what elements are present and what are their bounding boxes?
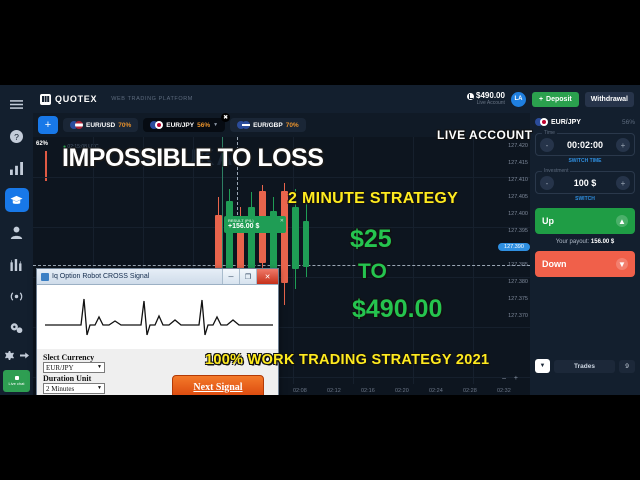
current-price-tag: 127.390 <box>498 243 530 251</box>
panel-asset-name: EUR/JPY <box>551 119 581 126</box>
eurjpy-flag-icon <box>535 118 548 126</box>
chat-dot-icon <box>15 376 19 380</box>
deposit-button[interactable]: + Deposit <box>532 92 579 107</box>
close-button[interactable]: ✕ <box>256 269 278 284</box>
time-tick: 02:28 <box>463 388 477 394</box>
close-icon[interactable]: ✕ <box>280 218 284 224</box>
overlay-amount-to: $490.00 <box>352 295 442 324</box>
overlay-strategy: 2 MINUTE STRATEGY <box>288 190 458 208</box>
duration-select[interactable]: 2 Minutes ▼ <box>43 383 105 394</box>
live-chat-label: Live chat <box>8 381 24 386</box>
price-tick: 127.370 <box>498 313 528 319</box>
time-tick: 02:12 <box>327 388 341 394</box>
buy-up-button[interactable]: Up ▲ <box>535 208 635 234</box>
investment-field[interactable]: Investment - 100 $ + <box>535 171 635 194</box>
account-balance[interactable]: $490.00 Live Account <box>467 92 505 106</box>
candle <box>303 197 309 277</box>
duration-value: 2 Minutes <box>46 385 74 393</box>
asset-tab-eurusd[interactable]: EUR/USD 70% <box>63 118 138 132</box>
time-tick: 02:20 <box>395 388 409 394</box>
time-legend: Time <box>542 130 557 136</box>
asset-tab-payout: 70% <box>118 122 131 129</box>
letterbox-top <box>0 0 640 85</box>
person-icon[interactable] <box>5 220 29 244</box>
payout-value: 156.00 $ <box>591 239 614 245</box>
switch-time-link[interactable]: SWITCH TIME <box>535 158 635 164</box>
investment-increment-button[interactable]: + <box>616 176 630 190</box>
eurjpy-flag-icon <box>150 121 163 129</box>
investment-value: 100 $ <box>574 178 597 188</box>
letterbox-bottom <box>0 395 640 480</box>
trades-label[interactable]: Trades <box>554 360 615 373</box>
price-tick: 127.380 <box>498 279 528 285</box>
asset-tab-name: EUR/JPY <box>166 122 194 129</box>
investment-decrement-button[interactable]: - <box>540 176 554 190</box>
brand-name: QUOTEX <box>55 94 97 104</box>
candle <box>281 183 288 305</box>
window-titlebar[interactable]: Iq Option Robot CROSS Signal ─ ❐ ✕ <box>37 269 278 285</box>
withdrawal-button[interactable]: Withdrawal <box>585 92 634 107</box>
price-tick: 127.410 <box>498 177 528 183</box>
asset-tab-eurgbp[interactable]: EUR/GBP 70% <box>230 118 306 132</box>
maximize-button[interactable]: ❐ <box>239 269 256 284</box>
plus-icon: + <box>539 96 543 103</box>
price-tick: 127.400 <box>498 211 528 217</box>
payout-info: Your payout: 156.00 $ <box>535 239 635 245</box>
minimize-button[interactable]: ─ <box>222 269 239 284</box>
arrow-right-icon[interactable] <box>20 347 29 365</box>
left-sidebar: ? <box>0 85 33 395</box>
live-chat-button[interactable]: Live chat <box>3 370 30 392</box>
top-header: QUOTEX WEB TRADING PLATFORM $490.00 Live… <box>33 85 640 113</box>
svg-text:?: ? <box>14 131 19 141</box>
asset-tab-payout: 56% <box>197 122 210 129</box>
overlay-to: TO <box>358 260 387 284</box>
eurusd-flag-icon <box>70 121 83 129</box>
overlay-headline: IMPOSSIBLE TO LOSS <box>62 144 323 173</box>
overlay-footer: 100% WORK TRADING STRATEGY 2021 <box>205 352 489 368</box>
chart-top-percent: 62% <box>36 141 48 147</box>
app-icon <box>41 273 49 281</box>
price-tick: 127.375 <box>498 296 528 302</box>
chevron-down-icon: ▼ <box>97 386 102 391</box>
avatar[interactable]: LA <box>511 92 526 107</box>
price-tick: 127.385 <box>498 262 528 268</box>
sell-down-button[interactable]: Down ▼ <box>535 251 635 277</box>
panel-asset-payout: 56% <box>622 119 635 126</box>
robot-signal-window[interactable]: Iq Option Robot CROSS Signal ─ ❐ ✕ Slect… <box>36 268 279 395</box>
time-value: 00:02:00 <box>567 140 603 150</box>
asset-tab-name: EUR/GBP <box>253 122 283 129</box>
asset-tab-eurjpy[interactable]: EUR/JPY 56% ▼ ✖ <box>143 118 225 132</box>
support-icon[interactable] <box>5 316 29 340</box>
gear-icon[interactable] <box>5 347 14 365</box>
trading-app: NS UKA ● 02:15:08 UTC 62% 38% <box>0 85 640 395</box>
trades-dropdown-icon[interactable]: ▼ <box>535 359 550 373</box>
time-tick: 02:08 <box>293 388 307 394</box>
hamburger-menu-icon[interactable] <box>5 92 29 116</box>
up-label: Up <box>542 216 554 226</box>
platform-tagline: WEB TRADING PLATFORM <box>111 96 193 102</box>
deposit-label: Deposit <box>546 96 572 103</box>
trades-count-badge: 9 <box>619 360 635 373</box>
check-circle-icon <box>467 93 474 100</box>
currency-select[interactable]: EUR/JPY ▼ <box>43 362 105 373</box>
chevron-down-icon: ▼ <box>97 365 102 370</box>
market-chart-icon[interactable] <box>5 252 29 276</box>
time-tick: 02:24 <box>429 388 443 394</box>
time-increment-button[interactable]: + <box>616 138 630 152</box>
eurgbp-flag-icon <box>237 121 250 129</box>
brand-logo[interactable]: QUOTEX <box>40 94 97 105</box>
price-tick: 127.405 <box>498 194 528 200</box>
asset-tab-name: EUR/USD <box>86 122 115 129</box>
account-type-label: Live Account <box>467 101 505 106</box>
investment-legend: Investment <box>542 168 570 174</box>
signal-icon[interactable] <box>5 284 29 308</box>
time-tick: 02:32 <box>497 388 511 394</box>
time-field[interactable]: Time - 00:02:00 + <box>535 133 635 156</box>
asset-tab-payout: 70% <box>286 122 299 129</box>
overlay-live-account: LIVE ACCOUNT <box>437 128 533 142</box>
close-icon[interactable]: ✖ <box>221 113 230 122</box>
sidebar-footer: Live chat <box>0 347 33 392</box>
time-tick: 02:16 <box>361 388 375 394</box>
panel-asset-header[interactable]: EUR/JPY 56% <box>535 118 635 126</box>
payout-prefix: Your payout: <box>556 239 589 245</box>
time-decrement-button[interactable]: - <box>540 138 554 152</box>
price-tick: 127.415 <box>498 160 528 166</box>
trades-bar: ▼ Trades 9 <box>535 359 635 373</box>
switch-link[interactable]: SWITCH <box>535 196 635 202</box>
chevron-down-icon[interactable]: ▼ <box>213 122 218 128</box>
overlay-amount-from: $25 <box>350 225 392 254</box>
arrow-down-icon: ▼ <box>616 258 628 270</box>
sidebar-item-education[interactable] <box>5 188 29 212</box>
price-tick: 127.420 <box>498 143 528 149</box>
arrow-up-icon: ▲ <box>616 215 628 227</box>
result-badge-value: +156.00 $ <box>228 223 282 230</box>
currency-value: EUR/JPY <box>46 364 74 372</box>
down-label: Down <box>542 259 567 269</box>
add-asset-button[interactable]: + <box>38 116 58 134</box>
bar-chart-icon[interactable] <box>5 156 29 180</box>
next-signal-button[interactable]: Next Signal <box>172 375 264 395</box>
result-badge[interactable]: RESULT (P/L) +156.00 $ ✕ <box>224 216 286 233</box>
zoom-in-icon[interactable]: + <box>514 375 518 382</box>
signal-waveform <box>37 285 278 349</box>
trade-panel: EUR/JPY 56% Time - 00:02:00 + SWITCH TIM… <box>530 113 640 395</box>
window-title: Iq Option Robot CROSS Signal <box>52 273 149 280</box>
price-tick: 127.395 <box>498 228 528 234</box>
quotex-logo-icon <box>40 94 51 105</box>
help-circle-icon[interactable]: ? <box>5 124 29 148</box>
screenshot-root: NS UKA ● 02:15:08 UTC 62% 38% <box>0 0 640 480</box>
zoom-out-icon[interactable]: – <box>502 375 506 382</box>
